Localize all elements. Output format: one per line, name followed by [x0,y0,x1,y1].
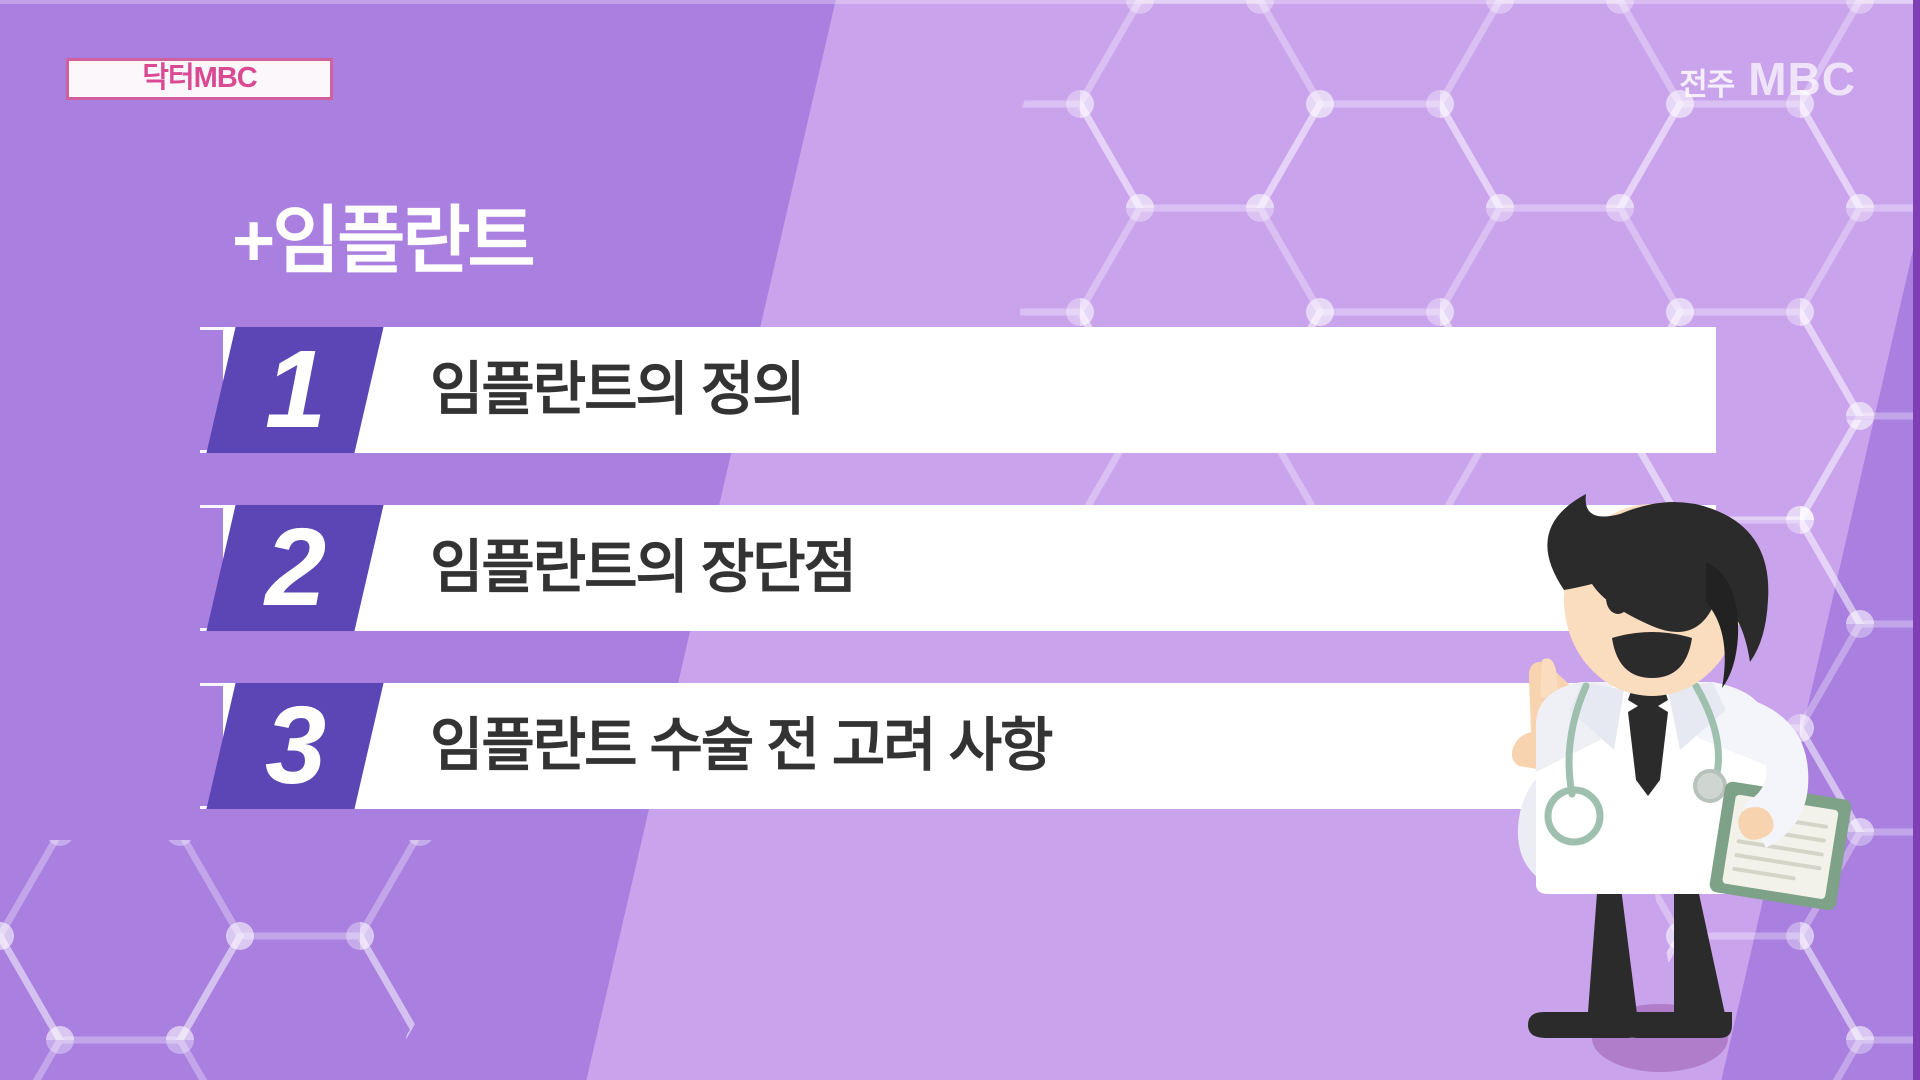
topic-list: 1 임플란트의 정의 2 임플란트의 장단점 [200,327,1700,809]
topic-row[interactable]: 3 임플란트 수술 전 고려 사항 [223,683,1718,809]
topic-label: 임플란트의 장단점 [430,539,855,597]
station-logo: 전주 MBC [1679,52,1856,106]
station-region-label: 전주 [1679,59,1734,104]
topic-row-3-wrap: 3 임플란트 수술 전 고려 사항 [200,683,1700,809]
row-gap [200,631,1700,683]
program-logo-badge: 닥터MBC [66,58,333,100]
topic-number: 2 [265,513,324,623]
divider-line [200,806,1700,809]
topic-row[interactable]: 2 임플란트의 장단점 [223,505,1718,631]
row-gap [200,453,1700,505]
top-edge-line [0,0,1920,4]
page-title: +임플란트 [232,204,533,278]
slide-stage: 닥터MBC 전주 MBC +임플란트 1 임플란트의 정의 [0,0,1920,1080]
right-edge-strip [1913,0,1920,1080]
topic-row-1-wrap: 1 임플란트의 정의 [200,327,1700,453]
topic-number: 3 [265,691,324,801]
topic-label: 임플란트 수술 전 고려 사항 [430,717,1051,775]
program-logo-label: 닥터MBC [142,64,256,93]
topic-number-block: 1 [206,327,383,453]
topic-row-2-wrap: 2 임플란트의 장단점 [200,505,1700,631]
topic-row[interactable]: 1 임플란트의 정의 [223,327,1718,453]
topic-number: 1 [265,335,324,445]
topic-number-block: 2 [206,505,383,631]
topic-number-block: 3 [206,683,383,809]
topic-label: 임플란트의 정의 [430,361,804,419]
station-network-label: MBC [1748,52,1856,106]
